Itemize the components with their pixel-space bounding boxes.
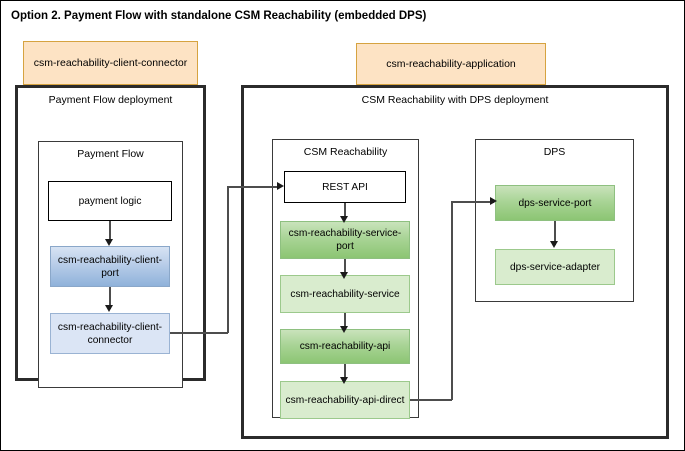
arrowhead-service-port bbox=[340, 216, 348, 223]
panel-payment-flow-label: Payment Flow bbox=[39, 147, 182, 161]
page-title: Option 2. Payment Flow with standalone C… bbox=[11, 7, 651, 25]
node-api-direct[interactable]: csm-reachability-api-direct bbox=[280, 381, 410, 419]
arrowhead-dps-service-port bbox=[490, 197, 497, 205]
node-service-port[interactable]: csm-reachability-service-port bbox=[280, 221, 410, 259]
node-payment-logic[interactable]: payment logic bbox=[48, 181, 172, 221]
arrowhead-dps-adapter bbox=[550, 241, 558, 248]
node-service[interactable]: csm-reachability-service bbox=[280, 275, 410, 313]
node-dps-service-adapter[interactable]: dps-service-adapter bbox=[495, 249, 615, 285]
node-client-port[interactable]: csm-reachability-client-port bbox=[50, 246, 170, 287]
arrowhead-client-connector bbox=[105, 305, 113, 312]
diagram-canvas: Option 2. Payment Flow with standalone C… bbox=[0, 0, 685, 451]
edge-api-direct-to-dps-h1 bbox=[410, 399, 452, 401]
edge-api-direct-to-dps-h2 bbox=[451, 201, 494, 203]
deployment-csm-reachability-label: CSM Reachability with DPS deployment bbox=[244, 93, 666, 107]
package-tab-client-connector: csm-reachability-client-connector bbox=[23, 41, 198, 85]
edge-connector-to-rest-api-h2 bbox=[227, 186, 278, 188]
edge-api-direct-to-dps-v bbox=[451, 201, 453, 400]
arrowhead-rest-api bbox=[277, 182, 284, 190]
node-dps-service-port[interactable]: dps-service-port bbox=[495, 185, 615, 221]
panel-csm-reachability-label: CSM Reachability bbox=[273, 145, 418, 159]
arrowhead-api bbox=[340, 326, 348, 333]
package-tab-application: csm-reachability-application bbox=[356, 43, 546, 85]
node-client-connector[interactable]: csm-reachability-client-connector bbox=[50, 313, 170, 354]
edge-connector-to-rest-api-h1 bbox=[170, 332, 228, 334]
node-api[interactable]: csm-reachability-api bbox=[280, 329, 410, 364]
arrowhead-service bbox=[340, 272, 348, 279]
node-rest-api[interactable]: REST API bbox=[284, 171, 406, 203]
panel-dps-label: DPS bbox=[476, 145, 633, 159]
arrowhead-api-direct bbox=[340, 377, 348, 384]
arrowhead-client-port bbox=[105, 239, 113, 246]
edge-connector-to-rest-api-v bbox=[227, 186, 229, 333]
deployment-payment-flow-label: Payment Flow deployment bbox=[18, 93, 203, 107]
